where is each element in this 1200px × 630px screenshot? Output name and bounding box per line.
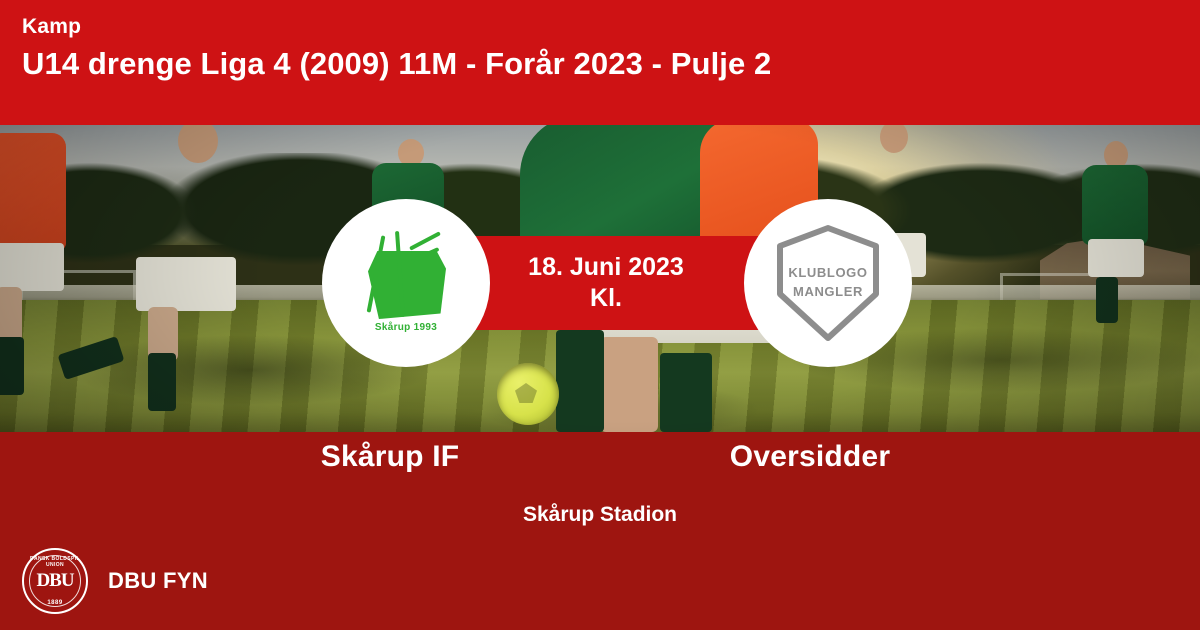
dbu-ring-text: DANSK BOLDSPIL UNION: [24, 556, 86, 568]
missing-logo-line-2: MANGLER: [793, 283, 863, 302]
teams-row: Skårup IF Oversidder: [0, 440, 1200, 474]
poster-header: Kamp U14 drenge Liga 4 (2009) 11M - Forå…: [0, 0, 1200, 125]
venue-name: Skårup Stadion: [0, 503, 1200, 527]
skaarup-crest-icon: Skårup 1993: [346, 223, 466, 343]
match-time: Kl.: [590, 283, 622, 314]
match-date: 18. Juni 2023: [528, 252, 684, 283]
dbu-year: 1889: [24, 600, 86, 606]
dbu-letters: DBU: [36, 570, 73, 592]
kamp-label: Kamp: [22, 14, 1200, 40]
date-banner-text: 18. Juni 2023 Kl.: [452, 236, 760, 330]
crest-club-text: Skårup 1993: [346, 322, 466, 333]
away-team-name: Oversidder: [600, 440, 1020, 474]
dbu-emblem-icon: DANSK BOLDSPIL UNION DBU 1889: [22, 548, 88, 614]
away-club-logo: KLUBLOGO MANGLER: [744, 199, 912, 367]
competition-title: U14 drenge Liga 4 (2009) 11M - Forår 202…: [22, 44, 1200, 84]
match-poster: Kamp U14 drenge Liga 4 (2009) 11M - Forå…: [0, 0, 1200, 630]
footer-branding: DANSK BOLDSPIL UNION DBU 1889 DBU FYN: [22, 548, 208, 614]
home-team-name: Skårup IF: [180, 440, 600, 474]
missing-logo-line-1: KLUBLOGO: [788, 264, 867, 283]
missing-logo-shield-icon: KLUBLOGO MANGLER: [776, 224, 880, 342]
organisation-label: DBU FYN: [108, 568, 208, 594]
